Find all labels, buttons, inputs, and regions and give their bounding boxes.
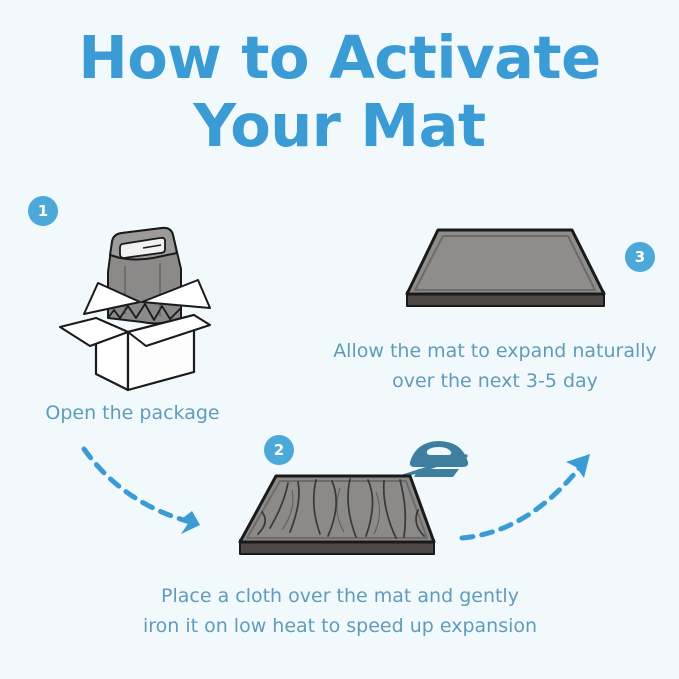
infographic-root: How to Activate Your Mat 1 (0, 0, 679, 679)
page-title: How to Activate Your Mat (0, 28, 679, 156)
step-badge-3: 3 (625, 242, 655, 272)
step-1-caption: Open the package (0, 398, 265, 428)
step-2-caption-line-2: iron it on low heat to speed up expansio… (100, 611, 580, 641)
step-3-caption-line-2: over the next 3-5 day (310, 366, 679, 396)
page-title-line-2: Your Mat (0, 96, 679, 156)
arrow-step1-to-step2-icon (78, 443, 228, 543)
step-1-caption-line-1: Open the package (0, 398, 265, 428)
arrow-step2-to-step3-icon (458, 448, 608, 548)
page-title-line-1: How to Activate (0, 28, 679, 88)
wrinkled-mat-illustration (232, 466, 442, 562)
step-3-caption: Allow the mat to expand naturally over t… (310, 336, 679, 396)
step-3-caption-line-1: Allow the mat to expand naturally (310, 336, 679, 366)
rolled-mat-graphic (108, 228, 181, 323)
flat-mat-illustration (398, 222, 613, 314)
step-2-caption: Place a cloth over the mat and gently ir… (100, 581, 580, 641)
step-badge-2: 2 (264, 435, 294, 465)
step-2-caption-line-1: Place a cloth over the mat and gently (100, 581, 580, 611)
open-box-illustration (50, 222, 230, 392)
